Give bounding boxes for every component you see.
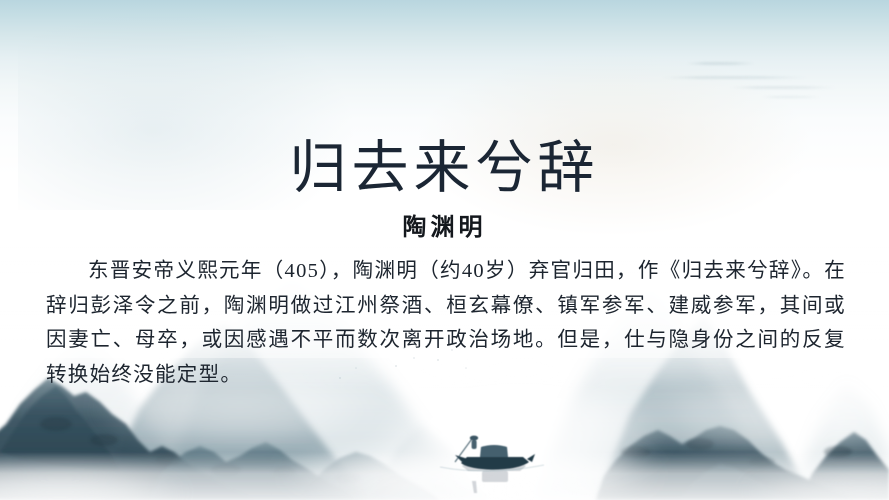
- page-title: 归去来兮辞: [0, 136, 889, 202]
- slide-canvas: 归去来兮辞 陶渊明 东晋安帝义熙元年（405），陶渊明（约40岁）弃官归田，作《…: [0, 0, 889, 500]
- body-paragraph: 东晋安帝义熙元年（405），陶渊明（约40岁）弃官归田，作《归去来兮辞》。在辞归…: [46, 254, 846, 392]
- slide-content: 归去来兮辞 陶渊明 东晋安帝义熙元年（405），陶渊明（约40岁）弃官归田，作《…: [0, 0, 889, 500]
- author-name: 陶渊明: [0, 213, 889, 243]
